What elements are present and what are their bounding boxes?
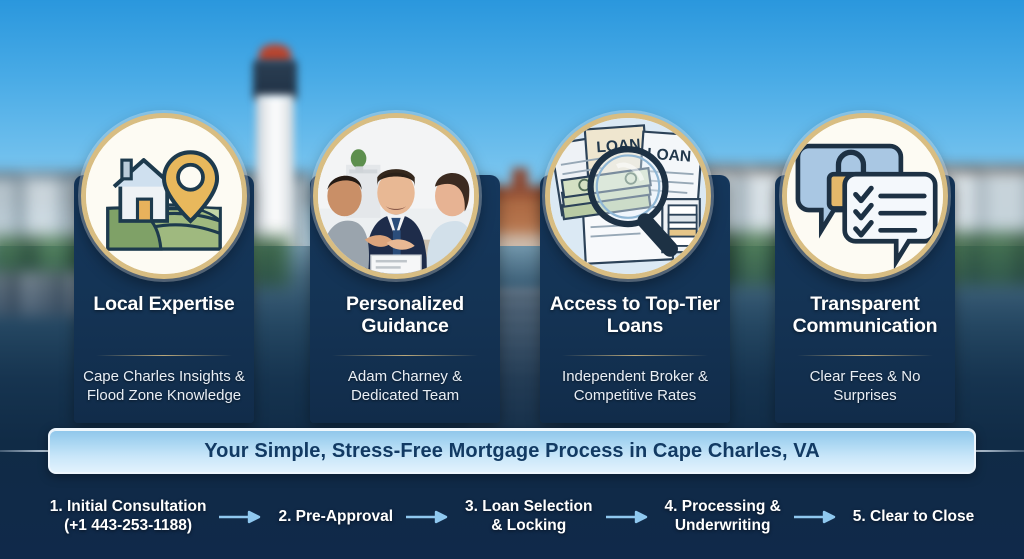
- feature-title: Transparent Communication: [775, 293, 955, 337]
- process-step-3[interactable]: 3. Loan Selection & Locking: [459, 498, 598, 536]
- process-banner: Your Simple, Stress-Free Mortgage Proces…: [0, 428, 1024, 474]
- feature-title: Access to Top-Tier Loans: [540, 293, 730, 337]
- title-divider: [562, 355, 708, 356]
- title-divider: [797, 355, 933, 356]
- process-step-1[interactable]: 1. Initial Consultation (+1 443-253-1188…: [44, 498, 213, 536]
- feature-title: Personalized Guidance: [310, 293, 500, 337]
- feature-subtitle: Clear Fees & No Surprises: [775, 367, 955, 405]
- handshake-meeting-photo: [313, 113, 479, 279]
- title-divider: [96, 355, 232, 356]
- banner-pill: Your Simple, Stress-Free Mortgage Proces…: [48, 428, 976, 474]
- feature-cards: Local Expertise Cape Charles Insights & …: [0, 0, 1024, 420]
- arrow-right-icon: [599, 510, 659, 524]
- title-divider: [332, 355, 478, 356]
- banner-title: Your Simple, Stress-Free Mortgage Proces…: [204, 440, 820, 463]
- speech-bubbles-lock-checklist-icon: [782, 113, 948, 279]
- loan-documents-magnifier-icon: LOAN LOAN: [545, 113, 711, 279]
- process-step-4[interactable]: 4. Processing & Underwriting: [659, 498, 787, 536]
- arrow-right-icon: [212, 510, 272, 524]
- process-step-5[interactable]: 5. Clear to Close: [847, 508, 980, 527]
- house-and-map-pin-icon: [81, 113, 247, 279]
- process-step-2[interactable]: 2. Pre-Approval: [272, 508, 399, 527]
- feature-subtitle: Cape Charles Insights & Flood Zone Knowl…: [74, 367, 254, 405]
- feature-subtitle: Adam Charney & Dedicated Team: [310, 367, 500, 405]
- arrow-right-icon: [399, 510, 459, 524]
- process-steps: 1. Initial Consultation (+1 443-253-1188…: [0, 482, 1024, 552]
- arrow-right-icon: [787, 510, 847, 524]
- feature-title: Local Expertise: [74, 293, 254, 315]
- feature-subtitle: Independent Broker & Competitive Rates: [540, 367, 730, 405]
